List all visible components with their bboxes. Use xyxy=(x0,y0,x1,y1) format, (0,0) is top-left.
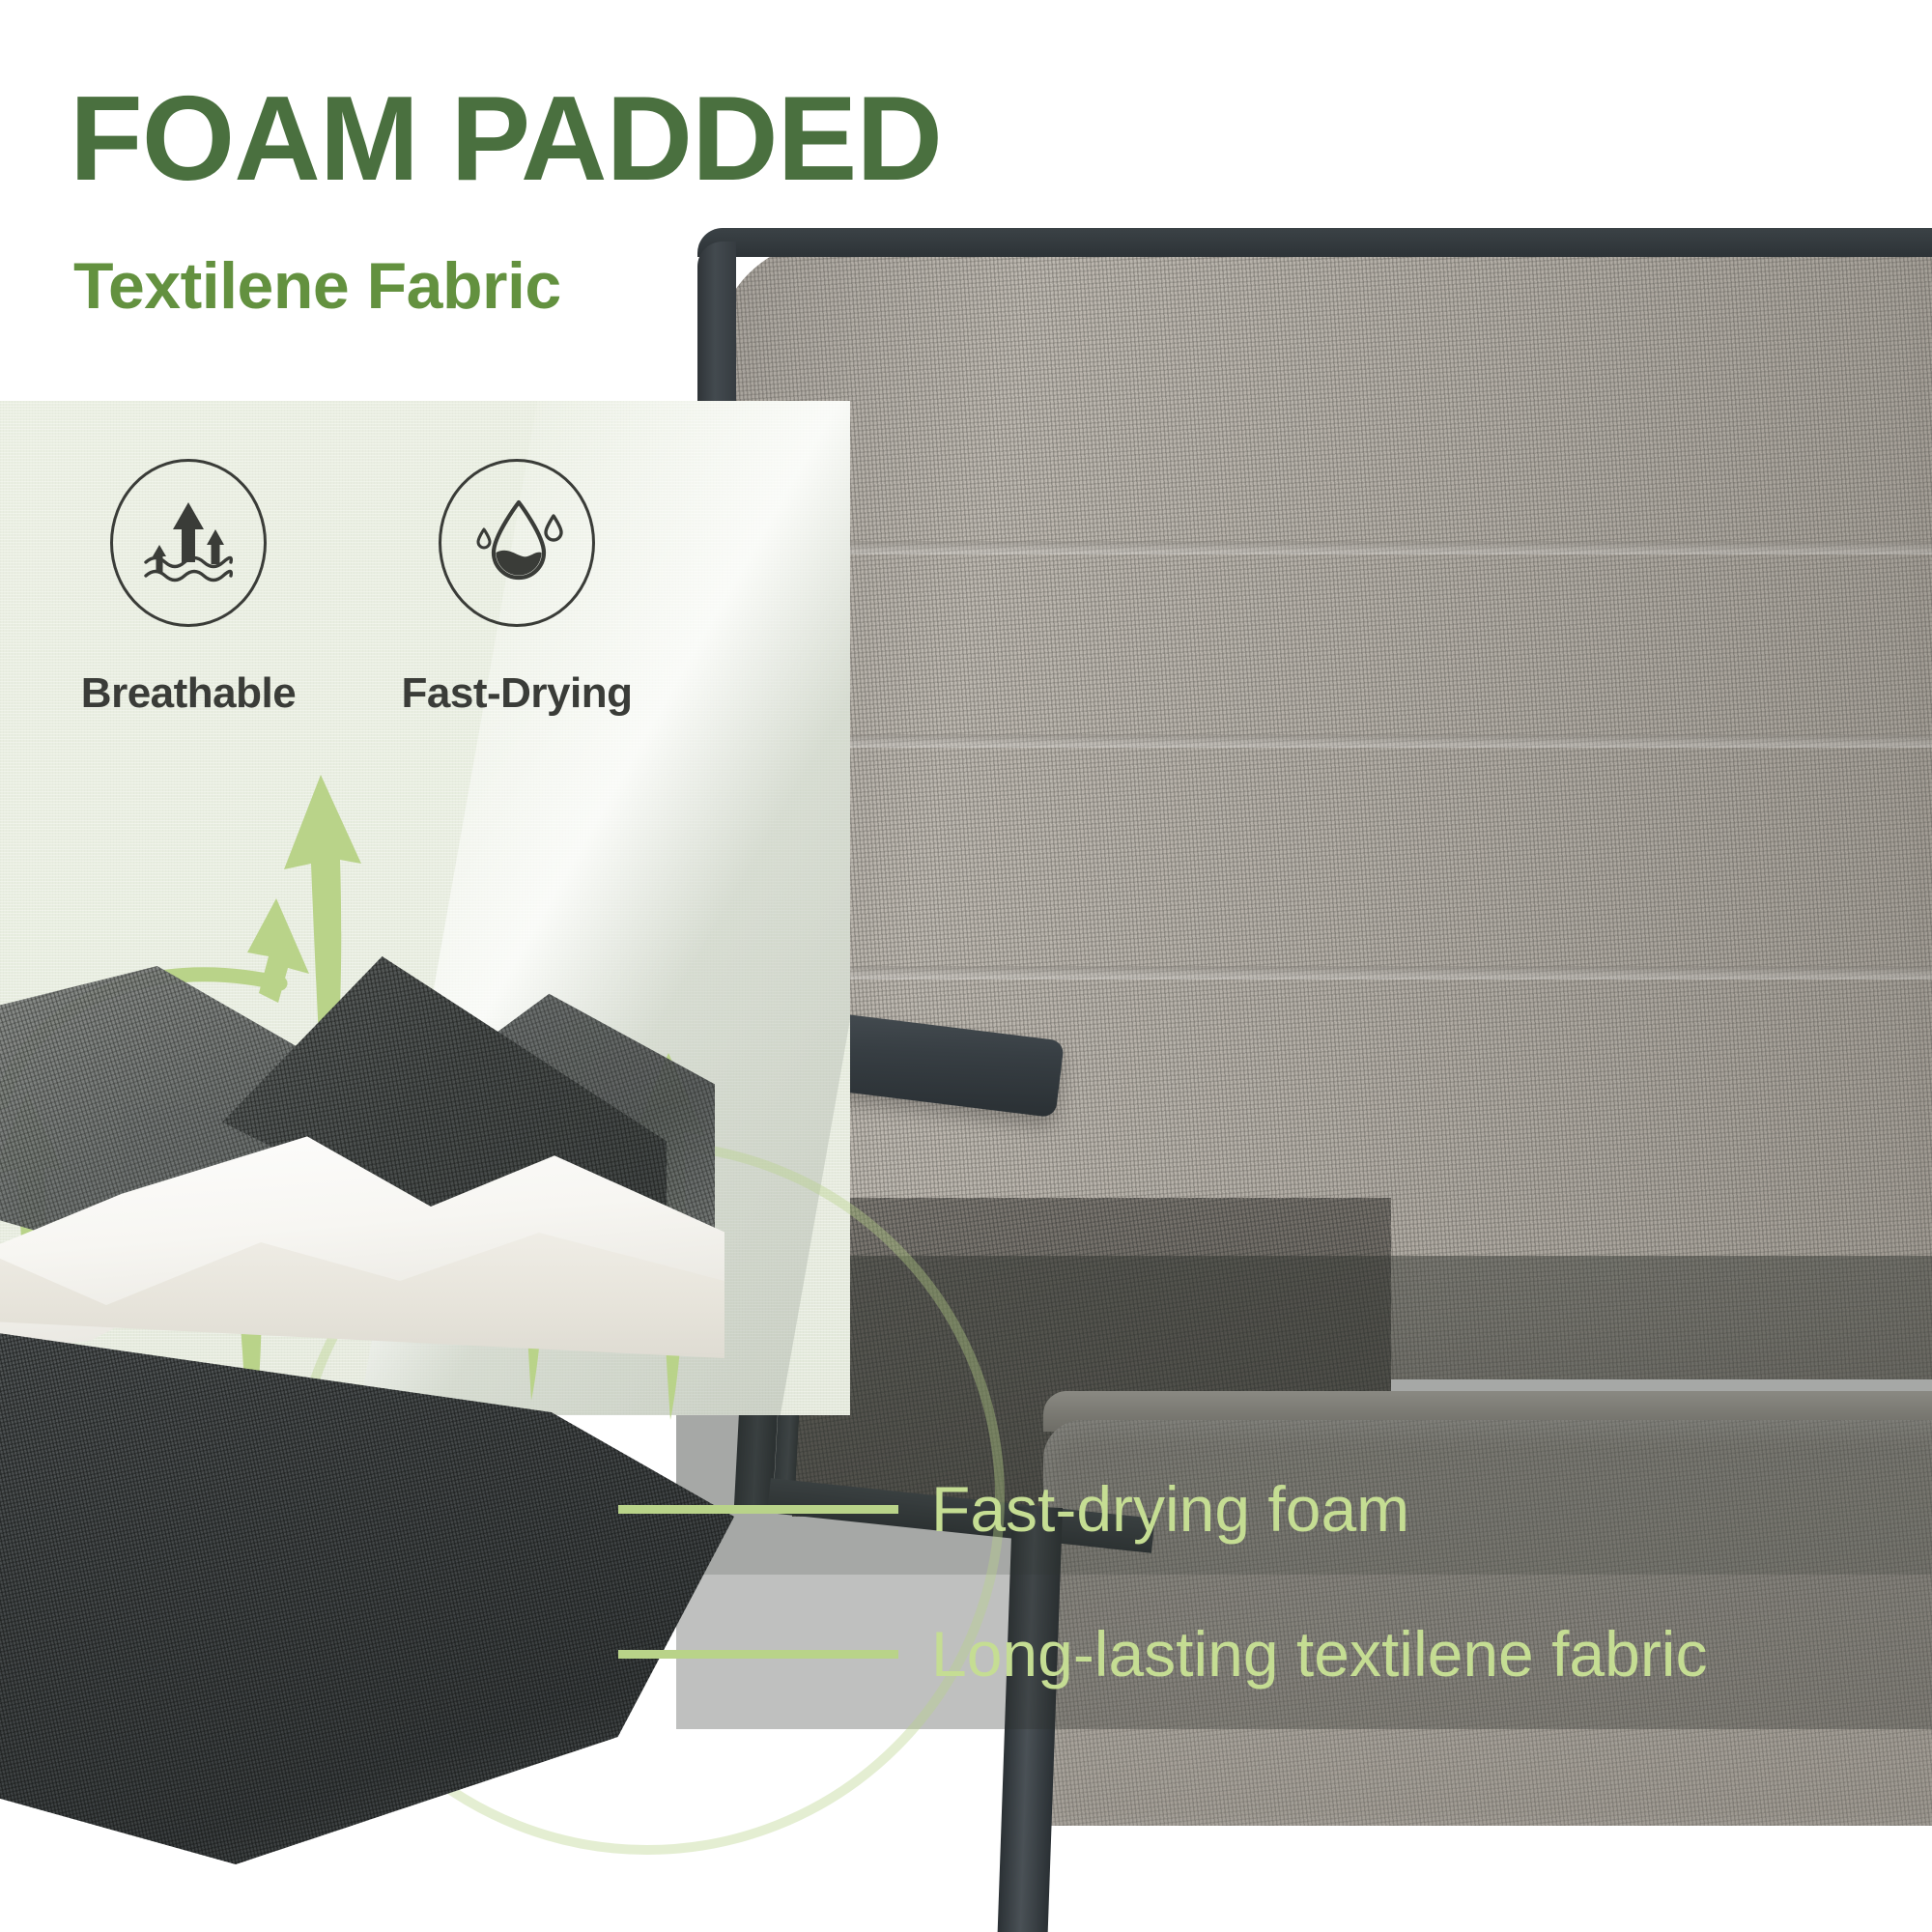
feature-badge-list: Breathable xyxy=(92,459,613,718)
water-droplet-icon xyxy=(463,487,571,600)
callout-leader-line xyxy=(618,1505,898,1514)
chair-frame-top-rail xyxy=(697,228,1932,257)
badge-label: Breathable xyxy=(81,669,296,718)
badge-label: Fast-Drying xyxy=(402,669,633,718)
callout-label: Fast-drying foam xyxy=(931,1472,1409,1546)
callout-fast-drying-foam: Fast-drying foam xyxy=(618,1472,1409,1546)
chair-back-seam xyxy=(734,541,1932,554)
badge-ring xyxy=(439,459,595,627)
callout-leader-line xyxy=(618,1650,898,1659)
chair-back-seam xyxy=(734,734,1932,748)
page-subtitle: Textilene Fabric xyxy=(73,253,561,319)
foam-fabric-cutaway-illustration xyxy=(0,966,850,1932)
product-feature-infographic: FOAM PADDED Textilene Fabric xyxy=(0,0,1932,1932)
callout-label: Long-lasting textilene fabric xyxy=(931,1617,1707,1690)
chair-back-seam xyxy=(734,966,1932,980)
page-title: FOAM PADDED xyxy=(70,79,942,199)
badge-ring xyxy=(110,459,267,627)
breathable-airflow-icon xyxy=(134,487,242,600)
feature-badge-breathable: Breathable xyxy=(92,459,285,718)
callout-long-lasting-textilene: Long-lasting textilene fabric xyxy=(618,1617,1707,1690)
feature-badge-fast-drying: Fast-Drying xyxy=(420,459,613,718)
